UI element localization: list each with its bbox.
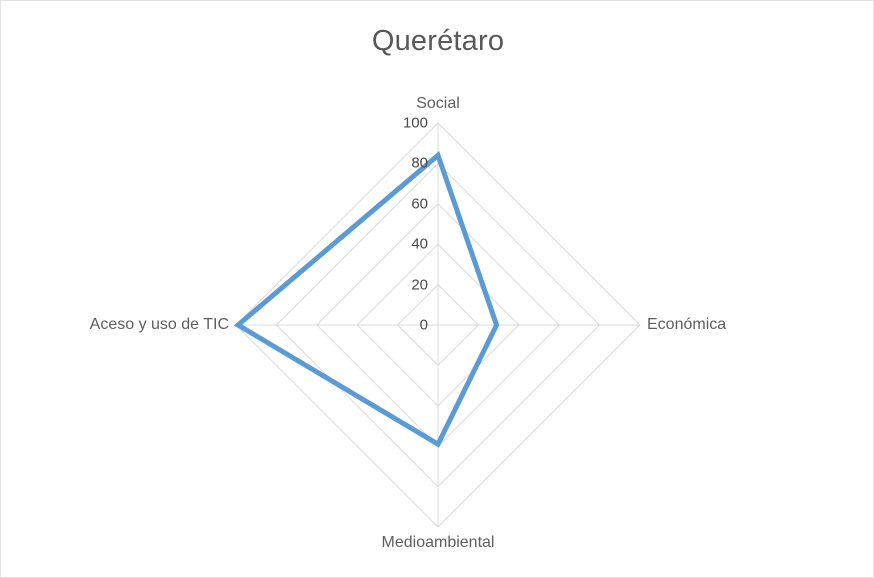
radar-axis-spokes	[236, 123, 640, 527]
radial-tick-100: 100	[403, 115, 428, 132]
radar-plot-area	[1, 1, 874, 578]
radar-series-polygon	[238, 155, 497, 444]
radial-tick-20: 20	[411, 276, 428, 293]
radial-tick-60: 60	[411, 195, 428, 212]
radar-chart-container: Querétaro Social Económica Medioambienta…	[0, 0, 874, 578]
radial-tick-0: 0	[420, 317, 428, 334]
axis-label-social: Social	[416, 95, 460, 113]
radial-tick-80: 80	[411, 155, 428, 172]
axis-label-economica: Económica	[647, 316, 726, 334]
axis-label-medioambiental: Medioambiental	[382, 534, 495, 552]
radial-tick-40: 40	[411, 236, 428, 253]
axis-label-aceso-y-uso-de-tic: Aceso y uso de TIC	[90, 316, 229, 334]
